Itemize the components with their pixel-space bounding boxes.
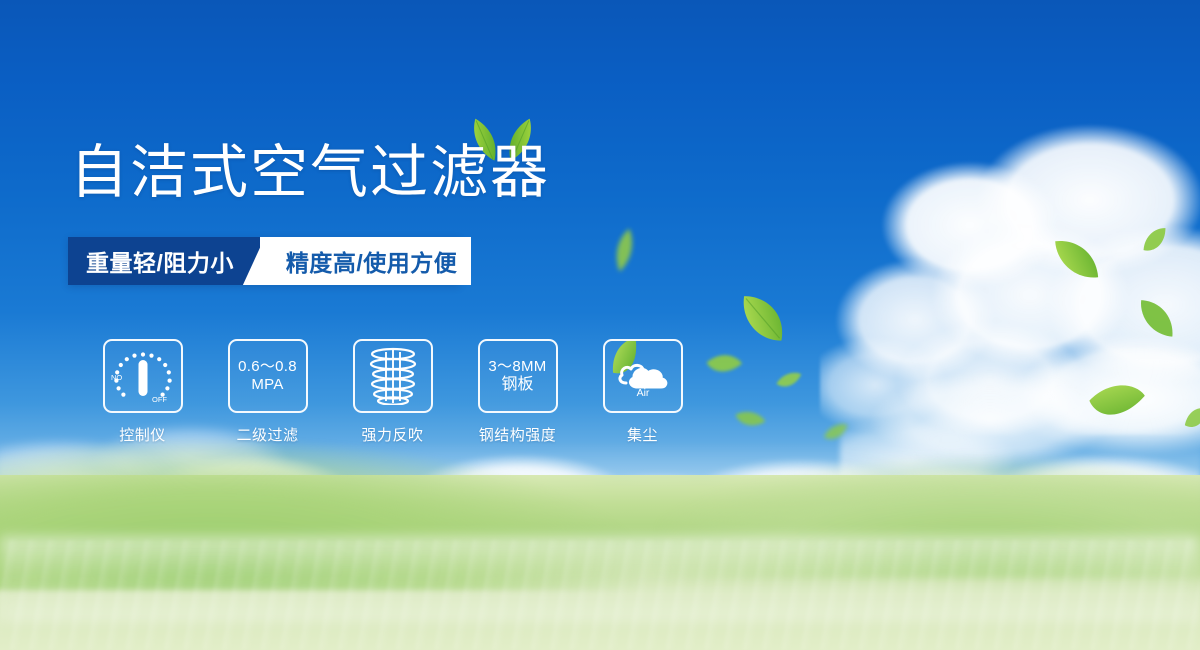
subtitle-left-text: 重量轻/阻力小 xyxy=(68,237,260,285)
pleated-filter-icon xyxy=(353,339,433,413)
feature-label: 强力反吹 xyxy=(361,424,423,445)
feature-item-steel-strength[interactable]: 3～8MM 钢板 钢结构强度 xyxy=(455,339,580,445)
feature-item-controller[interactable]: NO OFF 控制仪 xyxy=(80,339,205,445)
dial-label-no: NO xyxy=(111,373,122,382)
feature-label: 控制仪 xyxy=(119,424,166,445)
dial-label-off: OFF xyxy=(152,395,167,404)
product-banner: 自洁式空气过滤器 重量轻/阻力小 精度高/使用方便 xyxy=(0,0,1200,650)
pressure-text-icon: 0.6～0.8 MPA xyxy=(228,339,308,413)
gauge-dial-icon: NO OFF xyxy=(103,339,183,413)
feature-label: 钢结构强度 xyxy=(479,424,557,445)
steel-thickness: 3～8MM xyxy=(488,358,546,376)
air-cloud-icon: Air xyxy=(603,339,683,413)
feature-item-backblow[interactable]: 强力反吹 xyxy=(330,339,455,445)
pressure-unit: MPA xyxy=(251,376,283,394)
feature-label: 二级过滤 xyxy=(236,424,298,445)
feature-item-dust-collection[interactable]: Air 集尘 xyxy=(580,339,705,445)
pressure-range: 0.6～0.8 xyxy=(238,358,297,376)
steel-plate-text-icon: 3～8MM 钢板 xyxy=(478,339,558,413)
feature-item-secondary-filter[interactable]: 0.6～0.8 MPA 二级过滤 xyxy=(205,339,330,445)
subtitle-bar: 重量轻/阻力小 精度高/使用方便 xyxy=(68,237,460,285)
subtitle-right-text: 精度高/使用方便 xyxy=(260,237,471,285)
steel-material: 钢板 xyxy=(501,375,533,394)
feature-list: NO OFF 控制仪 0.6～0.8 MPA 二级过滤 xyxy=(80,339,705,445)
page-title: 自洁式空气过滤器 xyxy=(70,144,550,202)
air-label: Air xyxy=(636,387,649,397)
feature-label: 集尘 xyxy=(627,424,658,445)
